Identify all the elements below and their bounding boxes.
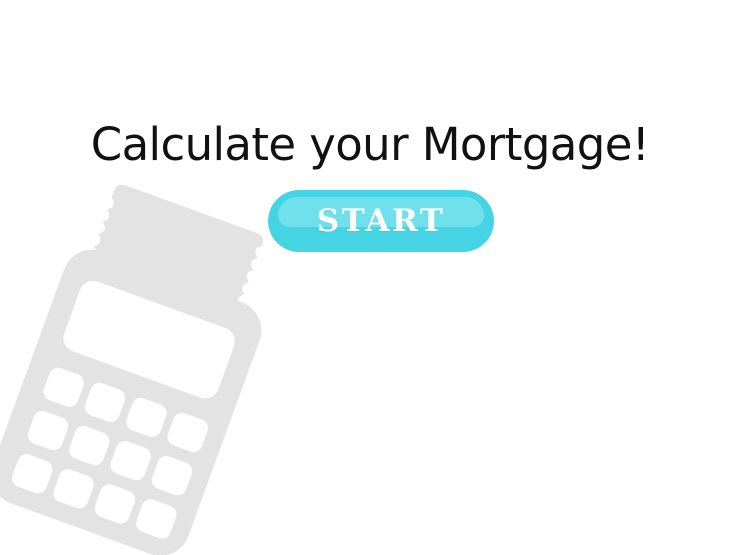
calculator-icon [0,200,320,555]
calculator-keypad [10,365,211,541]
start-button-label: START [268,190,494,252]
calculator-key [25,408,70,452]
calculator-key [67,423,112,467]
calculator-key [165,410,210,454]
page-title: Calculate your Mortgage! [0,118,740,171]
calculator-key [10,452,55,496]
calculator-body [0,241,270,555]
calculator-key [108,439,153,483]
calculator-display [59,277,238,403]
calculator-key [92,482,137,526]
app-root: Calculate your Mortgage! START [0,0,740,555]
calculator-key [124,395,169,439]
calculator-key [134,497,179,541]
calculator-key [41,365,86,409]
calculator-key [51,467,96,511]
start-button[interactable]: START [268,190,494,252]
calculator-key [82,380,127,424]
calculator-key [149,454,194,498]
receipt-paper [86,182,266,322]
